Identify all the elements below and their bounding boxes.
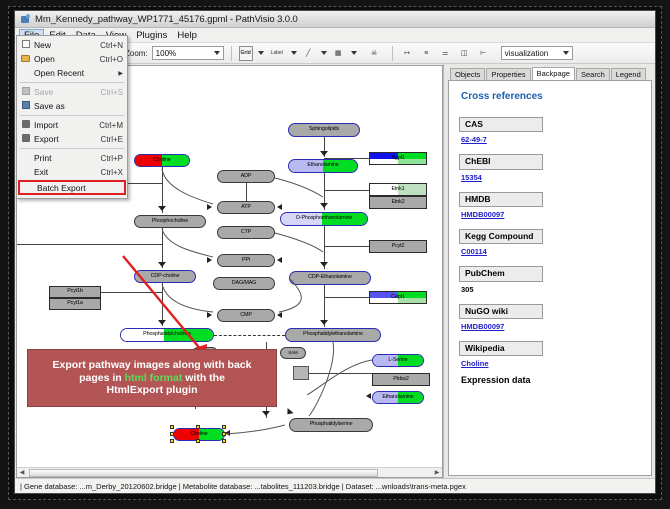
node-label: Phosphatidylserine (310, 422, 353, 427)
xref-name: PubChem (459, 266, 543, 281)
arrow-head (158, 262, 166, 267)
menu-item-exit[interactable]: Exit Ctrl+X (17, 165, 127, 179)
node-label: ATP (241, 205, 251, 210)
grid-icon[interactable]: Grid (239, 46, 253, 61)
tab-search[interactable]: Search (576, 68, 610, 81)
menu-separator-2 (20, 115, 124, 116)
gene-label: Pcyt1a (67, 301, 83, 306)
toolbar-separator-2 (392, 46, 393, 61)
callout-text: Export pathway images along with back pa… (53, 359, 252, 397)
menu-item-label: Export (32, 134, 95, 144)
distribute-icon[interactable]: ⊢ (476, 46, 491, 61)
node-dag-mag[interactable]: DAG/MAG (213, 277, 275, 290)
xref-value-link[interactable]: 62-49-7 (461, 135, 651, 144)
selection-handle-sw[interactable] (170, 439, 174, 443)
xref-cas: CAS 62-49-7 (459, 114, 651, 144)
xref-kegg-compound: Kegg Compound C00114 (459, 226, 651, 256)
menu-item-save: Save Ctrl+S (17, 85, 127, 99)
menu-item-accelerator: Ctrl+O (94, 55, 123, 64)
node-cdp-ethanolamine[interactable]: CDP-Ethanolamine (289, 271, 371, 285)
menu-item-label: Open Recent (32, 68, 118, 78)
selection-handle-se[interactable] (222, 439, 226, 443)
node-label: O-Phosphoethanolamine (296, 216, 353, 221)
side-panel-tabs: Objects Properties Backpage Search Legen… (444, 64, 655, 80)
pathvisio-icon (20, 14, 31, 25)
node-sphingolipids[interactable]: Sphingolipids (288, 123, 360, 137)
node-label: Phosphatidylethanolamine (303, 332, 363, 337)
anchor-tool-icon[interactable]: ☠ (367, 46, 382, 61)
submenu-arrow-icon: ▶ (118, 70, 123, 77)
window-title: Mm_Kennedy_pathway_WP1771_45176.gpml - P… (35, 14, 298, 25)
gene-cept1[interactable]: Cept1 (369, 291, 427, 304)
menu-item-label: Exit (32, 167, 95, 177)
callout-banner: Export pathway images along with back pa… (27, 349, 277, 407)
shape-chevron-down-icon[interactable] (351, 51, 357, 55)
cross-references-heading: Cross references (461, 91, 651, 102)
arrow-head (320, 203, 328, 208)
menu-plugins[interactable]: Plugins (131, 29, 172, 42)
menu-help[interactable]: Help (172, 29, 202, 42)
selection-handle-n[interactable] (196, 425, 200, 429)
canvas-hscrollbar[interactable]: ◀ ▶ (17, 467, 442, 477)
node-label: Choline (190, 432, 207, 437)
gene-label: Etnk1 (391, 187, 404, 192)
connector (324, 246, 369, 247)
arrow-head (207, 312, 212, 318)
selection-handle-ne[interactable] (222, 425, 226, 429)
gene-pcyt1b[interactable]: Pcyt1b (49, 286, 101, 298)
export-icon (19, 134, 32, 144)
connector-dashed (214, 335, 285, 336)
node-phosphatidylcholines[interactable]: Phosphatidylcholines (120, 328, 214, 342)
menu-separator-3 (20, 148, 124, 149)
menu-item-open[interactable]: Open Ctrl+O (17, 52, 127, 66)
callout-line2-a: pages in (79, 372, 125, 384)
menu-item-import[interactable]: Import Ctrl+M (17, 118, 127, 132)
gene-label: Ptdss2 (393, 377, 409, 382)
label-chevron-down-icon[interactable] (291, 51, 297, 55)
arrow-head (284, 408, 293, 417)
connector (17, 244, 162, 245)
node-label: Sphingolipids (309, 127, 339, 132)
xref-value-link[interactable]: C00114 (461, 247, 651, 256)
menu-item-label: Print (32, 153, 95, 163)
node-label: PPi (242, 258, 250, 263)
node-phosphatidylserine[interactable]: Phosphatidylserine (289, 418, 373, 432)
xref-name: Kegg Compound (459, 229, 543, 244)
callout-line3: HtmlExport plugin (107, 384, 198, 396)
xref-nugo-wiki: NuGO wiki HMDB00097 (459, 301, 651, 331)
selection-handle-s[interactable] (196, 439, 200, 443)
gene-etnk2[interactable]: Etnk2 (369, 196, 427, 209)
callout-line1: Export pathway images along with back (53, 359, 252, 371)
gene-label: Pcyt2 (392, 244, 405, 249)
node-label: CDP-choline (151, 274, 180, 279)
selection-handle-nw[interactable] (170, 425, 174, 429)
chevron-down-icon-2 (563, 51, 569, 55)
node-choline-top[interactable]: Choline (134, 154, 190, 167)
visualization-combo[interactable]: visualization (501, 46, 573, 60)
line-tool-icon[interactable]: ╱ (301, 46, 316, 61)
scroll-thumb[interactable] (29, 469, 378, 477)
menu-item-accelerator: Ctrl+M (93, 121, 123, 130)
node-cmp[interactable]: CMP (217, 309, 275, 322)
gene-pcyt1a[interactable]: Pcyt1a (49, 298, 101, 310)
zoom-combo[interactable]: 100% (152, 46, 224, 60)
gene-etnk1[interactable]: Etnk1 (369, 183, 427, 196)
grid-chevron-down-icon[interactable] (258, 51, 264, 55)
node-l-serine[interactable]: L-Serine (372, 354, 424, 367)
scroll-left-arrow-icon[interactable]: ◀ (17, 469, 27, 477)
expression-data-heading: Expression data (461, 375, 651, 385)
xref-chebi: ChEBI 15354 (459, 151, 651, 181)
callout-line2-highlight: html format (125, 372, 183, 384)
xref-value-plain: 305 (461, 285, 651, 294)
menu-item-label: Import (32, 120, 93, 130)
backpage-content: Cross references CAS 62-49-7 ChEBI 15354… (448, 80, 652, 476)
scroll-right-arrow-icon[interactable]: ▶ (432, 469, 442, 477)
arrow-head (277, 312, 282, 318)
gene-label: Pcyt1b (67, 289, 83, 294)
visualization-value: visualization (505, 49, 549, 58)
node-label: L-Serine (388, 358, 407, 363)
arrow-head (277, 257, 282, 263)
node-atp[interactable]: ATP (217, 201, 275, 214)
open-folder-icon (19, 55, 32, 64)
node-ctp[interactable]: CTP (217, 226, 275, 239)
node-ethanolamine-2[interactable]: Ethanolamine (372, 391, 424, 404)
node-label: CTP (241, 230, 251, 235)
callout-line2-b: with the (182, 372, 225, 384)
node-sam[interactable]: SAM (280, 347, 306, 359)
gene-sgpl1[interactable]: Sgpl1 (369, 152, 427, 165)
interaction-anchor-box (293, 366, 309, 380)
arrow-head (320, 262, 328, 267)
menu-item-export[interactable]: Export Ctrl+E (17, 132, 127, 146)
label-tool-icon[interactable]: Label (268, 46, 286, 61)
xref-value-link[interactable]: 15354 (461, 173, 651, 182)
node-adp[interactable]: ADP (217, 170, 275, 183)
connector (307, 373, 372, 374)
gene-label: Sgpl1 (391, 156, 404, 161)
menu-item-accelerator: Ctrl+S (95, 88, 123, 97)
xref-name: HMDB (459, 192, 543, 207)
arrow-head (207, 257, 212, 263)
menu-separator (20, 82, 124, 83)
shape-tool-icon[interactable]: ▦ (331, 46, 346, 61)
xref-name: CAS (459, 117, 543, 132)
stack-icon[interactable]: ◫ (457, 46, 472, 61)
menu-item-batch-export[interactable]: Batch Export (18, 180, 126, 195)
gene-ptdss2[interactable]: Ptdss2 (372, 373, 430, 386)
xref-name: NuGO wiki (459, 304, 543, 319)
arrow-head (366, 393, 371, 399)
node-label: Ethanolamine (307, 163, 338, 168)
tab-objects[interactable]: Objects (450, 68, 485, 81)
title-bar: Mm_Kennedy_pathway_WP1771_45176.gpml - P… (15, 11, 655, 28)
tab-properties[interactable]: Properties (486, 68, 530, 81)
menu-item-open-recent[interactable]: Open Recent ▶ (17, 66, 127, 80)
connector (324, 297, 369, 298)
node-label: Choline (153, 158, 170, 163)
tab-legend[interactable]: Legend (611, 68, 646, 81)
gene-label: Cept1 (391, 295, 405, 300)
arrow-head (277, 204, 282, 210)
node-cdp-choline[interactable]: CDP-choline (134, 270, 196, 283)
node-phosphatidylethanolamine[interactable]: Phosphatidylethanolamine (285, 328, 381, 342)
node-phosphocholine[interactable]: Phosphocholine (134, 215, 206, 228)
align-left-icon[interactable]: ↦ (400, 46, 415, 61)
menu-item-print[interactable]: Print Ctrl+P (17, 151, 127, 165)
node-label: ADP (241, 174, 252, 179)
node-o-phosphoethanolamine[interactable]: O-Phosphoethanolamine (280, 212, 368, 226)
xref-name: Wikipedia (459, 341, 543, 356)
arrow-head (320, 151, 328, 156)
menu-item-accelerator: Ctrl+N (94, 41, 123, 50)
chevron-down-icon (214, 51, 220, 55)
node-label: DAG/MAG (232, 281, 256, 286)
status-text: | Gene database: ...m_Derby_20120602.bri… (20, 482, 466, 491)
node-label: Phosphatidylcholines (143, 332, 191, 337)
tab-backpage[interactable]: Backpage (532, 67, 575, 81)
arrow-head (158, 320, 166, 325)
xref-value-link[interactable]: HMDB00097 (461, 210, 651, 219)
menu-item-new[interactable]: New Ctrl+N (17, 38, 127, 52)
menu-item-label: Save as (32, 101, 117, 111)
gene-pcyt2[interactable]: Pcyt2 (369, 240, 427, 253)
node-label: CDP-Ethanolamine (308, 275, 352, 280)
node-ppi[interactable]: PPi (217, 254, 275, 267)
menu-item-label: Save (32, 87, 95, 97)
file-menu-dropdown[interactable]: New Ctrl+N Open Ctrl+O Open Recent ▶ Sav… (16, 35, 128, 199)
node-label: SAM (288, 351, 298, 356)
arrow-head (158, 206, 166, 211)
line-chevron-down-icon[interactable] (321, 51, 327, 55)
xref-name: ChEBI (459, 154, 543, 169)
arrow-head (207, 204, 212, 210)
selection-handle-e[interactable] (222, 432, 226, 436)
save-as-icon (19, 101, 32, 111)
node-label: Ethanolamine (382, 395, 413, 400)
menu-item-label: New (32, 40, 94, 50)
node-label: CMP (240, 313, 252, 318)
zoom-label: Zoom: (125, 49, 148, 58)
align-center-icon[interactable]: ≡ (419, 46, 434, 61)
xref-hmdb: HMDB HMDB00097 (459, 189, 651, 219)
node-ethanolamine-top[interactable]: Ethanolamine (288, 159, 358, 173)
xref-value-link[interactable]: Choline (461, 359, 651, 368)
zoom-value: 100% (156, 49, 176, 58)
side-panel: Objects Properties Backpage Search Legen… (443, 64, 655, 478)
align-middle-icon[interactable]: ⚌ (438, 46, 453, 61)
screenshot-root: Mm_Kennedy_pathway_WP1771_45176.gpml - P… (0, 0, 670, 509)
menu-item-save-as[interactable]: Save as (17, 99, 127, 113)
xref-pubchem: PubChem 305 (459, 263, 651, 293)
connector (101, 292, 162, 293)
import-icon (19, 120, 32, 130)
menu-item-label: Open (32, 54, 94, 64)
selection-handle-w[interactable] (170, 432, 174, 436)
save-icon (19, 87, 32, 97)
menu-item-accelerator: Ctrl+X (95, 168, 123, 177)
status-bar: | Gene database: ...m_Derby_20120602.bri… (15, 478, 655, 493)
arrow-head (262, 411, 270, 416)
xref-value-link[interactable]: HMDB00097 (461, 322, 651, 331)
menu-item-label: Batch Export (35, 183, 120, 193)
menu-item-accelerator: Ctrl+P (95, 154, 123, 163)
toolbar-separator (231, 46, 232, 61)
connector (324, 190, 369, 191)
arrow-head (320, 320, 328, 325)
node-label: Phosphocholine (152, 219, 188, 224)
new-file-icon (19, 40, 32, 50)
xref-wikipedia: Wikipedia Choline (459, 338, 651, 368)
gene-label: Etnk2 (391, 200, 404, 205)
menu-item-accelerator: Ctrl+E (95, 135, 123, 144)
